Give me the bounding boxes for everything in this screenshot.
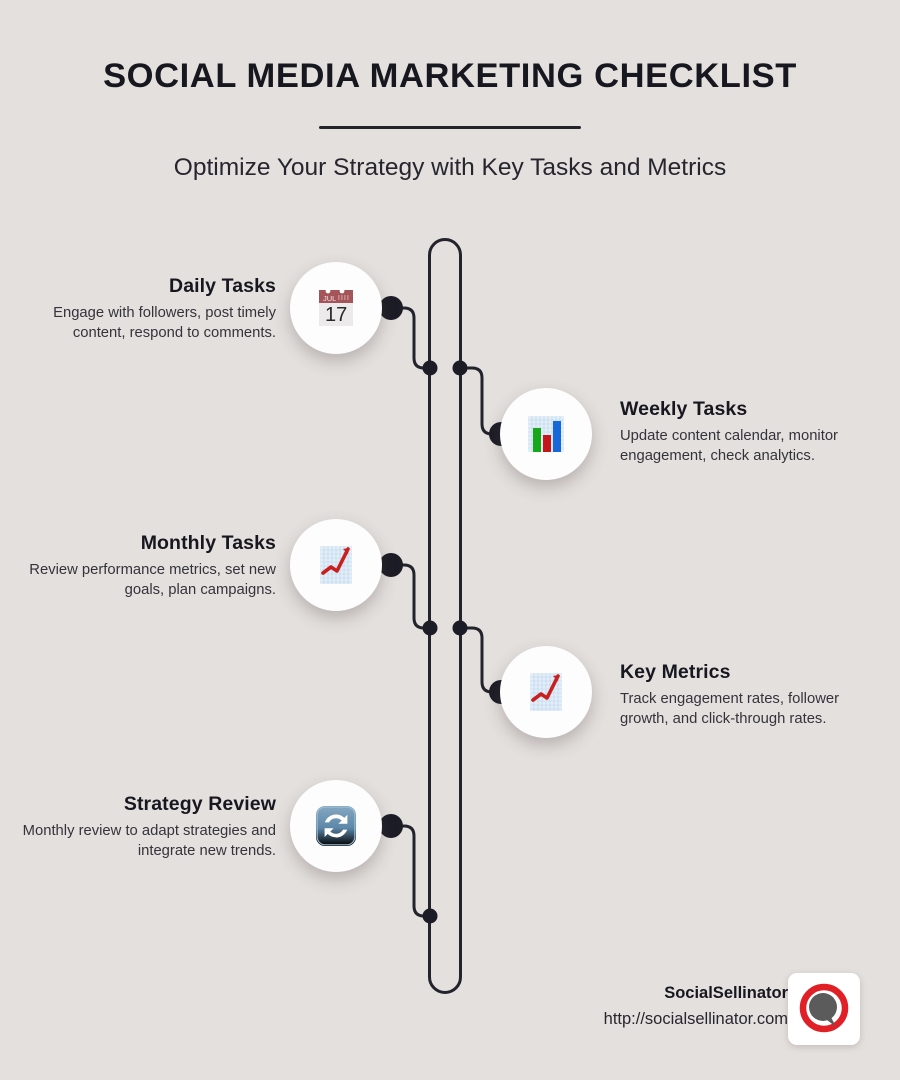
item-description: Update content calendar, monitor engagem… <box>620 427 888 466</box>
item-title: Strategy Review <box>8 793 276 815</box>
footer-text: SocialSellinator http://socialsellinator… <box>604 983 788 1031</box>
brand-logo[interactable] <box>788 973 860 1045</box>
socialsellinator-logo <box>797 982 851 1036</box>
infographic-page: SOCIAL MEDIA MARKETING CHECKLIST Optimiz… <box>0 0 900 1080</box>
refresh-sync-icon <box>312 802 360 850</box>
trending-up-chart-icon <box>522 668 570 716</box>
brand-url[interactable]: http://socialsellinator.com <box>604 1009 788 1030</box>
connector-node-strategy <box>379 814 403 838</box>
brand-name: SocialSellinator <box>604 983 788 1004</box>
item-daily-tasks[interactable]: Daily Tasks Engage with followers, post … <box>8 275 276 343</box>
item-description: Review performance metrics, set new goal… <box>8 561 276 600</box>
calendar-month-label: JUL <box>323 294 336 303</box>
calendar-icon: JUL 17 <box>312 284 360 332</box>
calendar-day-label: 17 <box>325 304 347 326</box>
footer: SocialSellinator http://socialsellinator… <box>480 975 880 1055</box>
connector-node-daily <box>379 296 403 320</box>
icon-bubble-monthly-tasks[interactable] <box>290 519 382 611</box>
item-description: Track engagement rates, follower growth,… <box>620 690 888 729</box>
item-description: Engage with followers, post timely conte… <box>8 304 276 343</box>
item-description: Monthly review to adapt strategies and i… <box>8 822 276 861</box>
item-title: Key Metrics <box>620 661 888 683</box>
icon-bubble-key-metrics[interactable] <box>500 646 592 738</box>
header: SOCIAL MEDIA MARKETING CHECKLIST Optimiz… <box>0 0 900 182</box>
connector-node-monthly <box>379 553 403 577</box>
item-key-metrics[interactable]: Key Metrics Track engagement rates, foll… <box>620 661 888 729</box>
icon-bubble-daily-tasks[interactable]: JUL 17 <box>290 262 382 354</box>
icon-bubble-strategy-review[interactable] <box>290 780 382 872</box>
page-title: SOCIAL MEDIA MARKETING CHECKLIST <box>0 58 900 96</box>
bar-chart-icon <box>522 410 570 458</box>
item-title: Weekly Tasks <box>620 398 888 420</box>
item-strategy-review[interactable]: Strategy Review Monthly review to adapt … <box>8 793 276 861</box>
item-monthly-tasks[interactable]: Monthly Tasks Review performance metrics… <box>8 532 276 600</box>
title-divider <box>319 126 581 129</box>
item-title: Monthly Tasks <box>8 532 276 554</box>
page-subtitle: Optimize Your Strategy with Key Tasks an… <box>0 153 900 182</box>
trending-up-chart-icon <box>312 541 360 589</box>
item-title: Daily Tasks <box>8 275 276 297</box>
icon-bubble-weekly-tasks[interactable] <box>500 388 592 480</box>
item-weekly-tasks[interactable]: Weekly Tasks Update content calendar, mo… <box>620 398 888 466</box>
timeline-spine <box>428 238 462 994</box>
